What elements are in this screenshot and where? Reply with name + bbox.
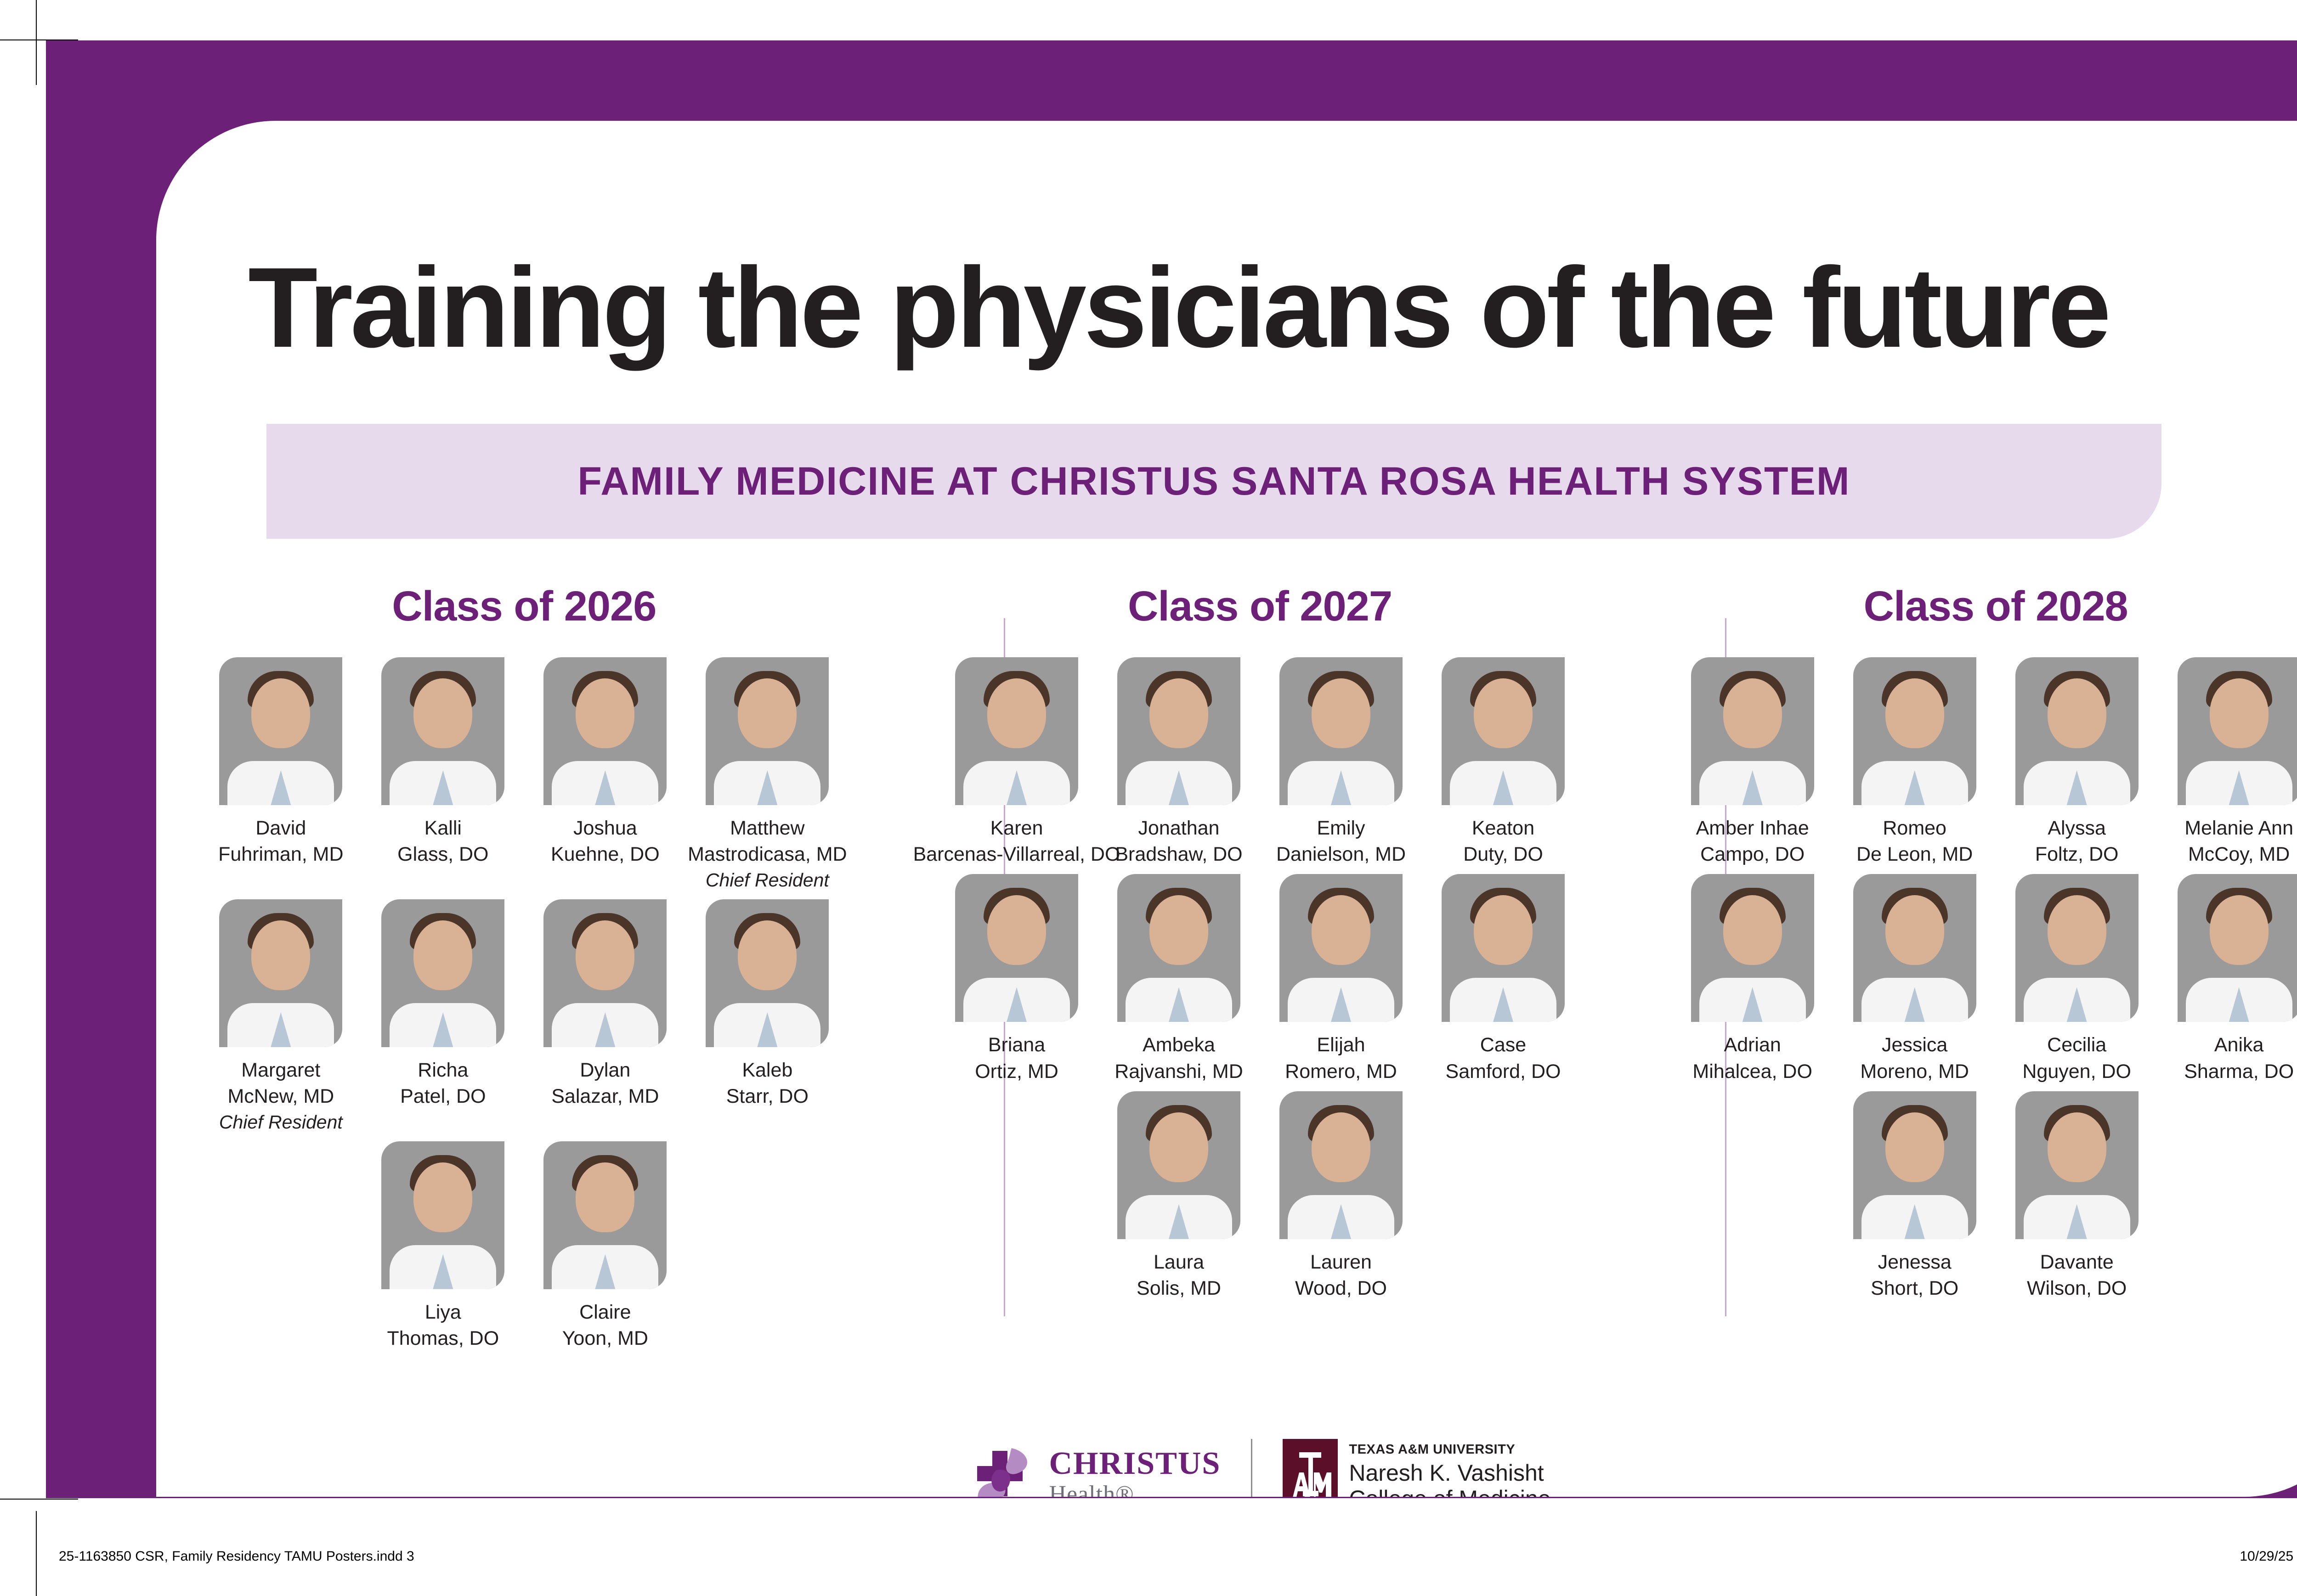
resident-first-name: Elijah bbox=[1285, 1032, 1397, 1058]
resident-last-name-degree: Patel, DO bbox=[400, 1083, 486, 1110]
resident-name: Melanie AnnMcCoy, MD bbox=[2184, 815, 2293, 868]
empty-slot bbox=[2170, 1091, 2297, 1302]
resident-last-name-degree: Yoon, MD bbox=[562, 1325, 648, 1352]
headshot-face bbox=[987, 895, 1046, 965]
headshot-face bbox=[1723, 678, 1782, 748]
resident-headshot bbox=[1853, 874, 1976, 1022]
headshot-face bbox=[251, 920, 310, 990]
resident-card: CaseSamford, DO bbox=[1434, 874, 1572, 1084]
resident-headshot bbox=[1853, 1091, 1976, 1239]
resident-last-name-degree: Wilson, DO bbox=[2027, 1275, 2127, 1302]
resident-first-name: Case bbox=[1446, 1032, 1561, 1058]
resident-last-name-degree: Glass, DO bbox=[397, 841, 488, 868]
crop-mark-top-left bbox=[36, 0, 37, 85]
christus-health-word: Health® bbox=[1049, 1483, 1221, 1497]
resident-name: ElijahRomero, MD bbox=[1285, 1032, 1397, 1084]
resident-first-name: Alyssa bbox=[2035, 815, 2119, 841]
resident-name: KarenBarcenas-Villarreal, DO bbox=[913, 815, 1120, 868]
headshot-face bbox=[2048, 1112, 2106, 1182]
resident-last-name-degree: Mihalcea, DO bbox=[1692, 1059, 1812, 1085]
resident-headshot bbox=[219, 899, 342, 1047]
resident-card: DavanteWilson, DO bbox=[2008, 1091, 2146, 1302]
resident-first-name: Romeo bbox=[1856, 815, 1973, 841]
resident-row: BrianaOrtiz, MDAmbekaRajvanshi, MDElijah… bbox=[892, 874, 1628, 1084]
resident-card: LaurenWood, DO bbox=[1272, 1091, 1410, 1302]
resident-headshot bbox=[219, 657, 342, 805]
resident-card: JonathanBradshaw, DO bbox=[1110, 657, 1248, 868]
resident-headshot bbox=[2015, 874, 2139, 1022]
resident-card: KarenBarcenas-Villarreal, DO bbox=[948, 657, 1086, 868]
resident-last-name-degree: Ortiz, MD bbox=[975, 1059, 1058, 1085]
resident-name: JonathanBradshaw, DO bbox=[1115, 815, 1242, 868]
resident-first-name: Richa bbox=[400, 1057, 486, 1083]
headshot-face bbox=[251, 678, 310, 748]
resident-card: AdrianMihalcea, DO bbox=[1684, 874, 1822, 1084]
headshot-face bbox=[2048, 678, 2106, 748]
resident-headshot bbox=[706, 899, 829, 1047]
resident-last-name-degree: Sharma, DO bbox=[2184, 1059, 2294, 1085]
resident-card: BrianaOrtiz, MD bbox=[948, 874, 1086, 1084]
headshot-face bbox=[576, 920, 634, 990]
resident-row: DavidFuhriman, MDKalliGlass, DOJoshuaKue… bbox=[156, 657, 892, 893]
resident-card: RichaPatel, DO bbox=[374, 899, 512, 1135]
resident-headshot bbox=[381, 899, 504, 1047]
headshot-face bbox=[1312, 1112, 1370, 1182]
resident-last-name-degree: Nguyen, DO bbox=[2022, 1059, 2131, 1085]
resident-card: ClaireYoon, MD bbox=[536, 1141, 674, 1352]
resident-first-name: Kaleb bbox=[726, 1057, 809, 1083]
resident-headshot bbox=[543, 1141, 667, 1289]
headshot-face bbox=[576, 678, 634, 748]
resident-last-name-degree: Wood, DO bbox=[1295, 1275, 1387, 1302]
headshot-face bbox=[1885, 678, 1944, 748]
headshot-face bbox=[1474, 678, 1533, 748]
resident-name: JoshuaKuehne, DO bbox=[551, 815, 660, 868]
crop-mark-left-bottom bbox=[0, 1499, 78, 1500]
resident-last-name-degree: Romero, MD bbox=[1285, 1059, 1397, 1085]
resident-first-name: Jessica bbox=[1860, 1032, 1969, 1058]
resident-headshot bbox=[955, 657, 1078, 805]
resident-role: Chief Resident bbox=[688, 868, 847, 893]
resident-last-name-degree: Moreno, MD bbox=[1860, 1059, 1969, 1085]
resident-headshot bbox=[543, 657, 667, 805]
resident-last-name-degree: Rajvanshi, MD bbox=[1115, 1059, 1243, 1085]
resident-last-name-degree: Short, DO bbox=[1871, 1275, 1958, 1302]
resident-row: LauraSolis, MDLaurenWood, DO bbox=[892, 1091, 1628, 1302]
resident-headshot bbox=[1279, 874, 1403, 1022]
resident-row: JenessaShort, DODavanteWilson, DO bbox=[1628, 1091, 2297, 1302]
resident-first-name: Lauren bbox=[1295, 1249, 1387, 1275]
resident-first-name: Keaton bbox=[1463, 815, 1543, 841]
christus-cross-icon bbox=[969, 1443, 1038, 1497]
resident-headshot bbox=[1117, 1091, 1240, 1239]
resident-headshot bbox=[1442, 657, 1565, 805]
resident-card: LauraSolis, MD bbox=[1110, 1091, 1248, 1302]
resident-card: MatthewMastrodicasa, MDChief Resident bbox=[698, 657, 836, 893]
headshot-face bbox=[1723, 895, 1782, 965]
resident-first-name: Kalli bbox=[397, 815, 488, 841]
logo-separator bbox=[1251, 1439, 1252, 1497]
resident-name: LaurenWood, DO bbox=[1295, 1249, 1387, 1302]
resident-last-name-degree: Kuehne, DO bbox=[551, 841, 660, 868]
class-column-0: Class of 2026DavidFuhriman, MDKalliGlass… bbox=[156, 582, 892, 1404]
resident-card: CeciliaNguyen, DO bbox=[2008, 874, 2146, 1084]
resident-first-name: Karen bbox=[913, 815, 1120, 841]
logo-strip: CHRISTUS Health® TEXAS A&M UNIVERSITY bbox=[156, 1439, 2297, 1497]
resident-card: KeatonDuty, DO bbox=[1434, 657, 1572, 868]
resident-headshot bbox=[2178, 657, 2297, 805]
resident-first-name: Emily bbox=[1276, 815, 1406, 841]
tamu-university-line: TEXAS A&M UNIVERSITY bbox=[1349, 1442, 1550, 1457]
resident-card: ElijahRomero, MD bbox=[1272, 874, 1410, 1084]
resident-name: DylanSalazar, MD bbox=[551, 1057, 659, 1110]
resident-name: RichaPatel, DO bbox=[400, 1057, 486, 1110]
class-title: Class of 2028 bbox=[1628, 582, 2297, 631]
resident-first-name: Briana bbox=[975, 1032, 1058, 1058]
resident-name: AlyssaFoltz, DO bbox=[2035, 815, 2119, 868]
resident-name: ClaireYoon, MD bbox=[562, 1299, 648, 1352]
headshot-face bbox=[2048, 895, 2106, 965]
resident-card: MargaretMcNew, MDChief Resident bbox=[212, 899, 350, 1135]
resident-last-name-degree: Mastrodicasa, MD bbox=[688, 841, 847, 868]
resident-last-name-degree: Starr, DO bbox=[726, 1083, 809, 1110]
resident-last-name-degree: Thomas, DO bbox=[387, 1325, 499, 1352]
headshot-face bbox=[1149, 1112, 1208, 1182]
resident-name: RomeoDe Leon, MD bbox=[1856, 815, 1973, 868]
headshot-face bbox=[2210, 678, 2269, 748]
resident-name: CaseSamford, DO bbox=[1446, 1032, 1561, 1084]
resident-name: KalliGlass, DO bbox=[397, 815, 488, 868]
print-timestamp: 10/29/25 11:39 AM bbox=[2240, 1549, 2297, 1564]
resident-card: JoshuaKuehne, DO bbox=[536, 657, 674, 893]
headshot-face bbox=[413, 920, 472, 990]
headshot-face bbox=[1149, 895, 1208, 965]
resident-last-name-degree: Duty, DO bbox=[1463, 841, 1543, 868]
resident-card: LiyaThomas, DO bbox=[374, 1141, 512, 1352]
headshot-face bbox=[1474, 895, 1533, 965]
resident-row: LiyaThomas, DOClaireYoon, MD bbox=[156, 1141, 892, 1352]
resident-first-name: Adrian bbox=[1692, 1032, 1812, 1058]
resident-first-name: Anika bbox=[2184, 1032, 2294, 1058]
subtitle-text: FAMILY MEDICINE AT CHRISTUS SANTA ROSA H… bbox=[577, 459, 1850, 504]
poster-canvas: Training the physicians of the future FA… bbox=[46, 40, 2297, 1498]
empty-slot bbox=[1434, 1091, 1572, 1302]
resident-row: MargaretMcNew, MDChief ResidentRichaPate… bbox=[156, 899, 892, 1135]
resident-last-name-degree: Samford, DO bbox=[1446, 1059, 1561, 1085]
resident-first-name: Melanie Ann bbox=[2184, 815, 2293, 841]
headshot-face bbox=[738, 678, 797, 748]
resident-headshot bbox=[1442, 874, 1565, 1022]
christus-wordmark: CHRISTUS bbox=[1049, 1448, 1221, 1480]
resident-name: Amber InhaeCampo, DO bbox=[1696, 815, 1809, 868]
resident-last-name-degree: Fuhriman, MD bbox=[218, 841, 343, 868]
resident-name: BrianaOrtiz, MD bbox=[975, 1032, 1058, 1084]
resident-card: JessicaMoreno, MD bbox=[1846, 874, 1984, 1084]
resident-headshot bbox=[381, 1141, 504, 1289]
resident-card: EmilyDanielson, MD bbox=[1272, 657, 1410, 868]
resident-first-name: Laura bbox=[1137, 1249, 1221, 1275]
resident-card: DavidFuhriman, MD bbox=[212, 657, 350, 893]
resident-last-name-degree: McNew, MD bbox=[219, 1083, 343, 1110]
tamu-atm-icon bbox=[1283, 1439, 1338, 1497]
resident-card: KalliGlass, DO bbox=[374, 657, 512, 893]
resident-headshot bbox=[543, 899, 667, 1047]
resident-name: KeatonDuty, DO bbox=[1463, 815, 1543, 868]
resident-headshot bbox=[706, 657, 829, 805]
resident-first-name: Ambeka bbox=[1115, 1032, 1243, 1058]
resident-first-name: Davante bbox=[2027, 1249, 2127, 1275]
resident-row: KarenBarcenas-Villarreal, DOJonathanBrad… bbox=[892, 657, 1628, 868]
resident-card: Melanie AnnMcCoy, MD bbox=[2170, 657, 2297, 868]
headshot-face bbox=[1149, 678, 1208, 748]
resident-first-name: Jonathan bbox=[1115, 815, 1242, 841]
resident-name: KalebStarr, DO bbox=[726, 1057, 809, 1110]
resident-name: MargaretMcNew, MDChief Resident bbox=[219, 1057, 343, 1135]
resident-first-name: Jenessa bbox=[1871, 1249, 1958, 1275]
resident-name: AmbekaRajvanshi, MD bbox=[1115, 1032, 1243, 1084]
tamu-college-line: College of Medicine bbox=[1349, 1486, 1550, 1497]
resident-last-name-degree: Foltz, DO bbox=[2035, 841, 2119, 868]
resident-first-name: Liya bbox=[387, 1299, 499, 1325]
resident-card: AmbekaRajvanshi, MD bbox=[1110, 874, 1248, 1084]
resident-first-name: Claire bbox=[562, 1299, 648, 1325]
tamu-benefactor-line: Naresh K. Vashisht bbox=[1349, 1460, 1550, 1486]
resident-name: CeciliaNguyen, DO bbox=[2022, 1032, 2131, 1084]
job-code: 00-000000 bbox=[2257, 1471, 2297, 1485]
resident-first-name: David bbox=[218, 815, 343, 841]
resident-last-name-degree: Salazar, MD bbox=[551, 1083, 659, 1110]
resident-card: RomeoDe Leon, MD bbox=[1846, 657, 1984, 868]
resident-card: DylanSalazar, MD bbox=[536, 899, 674, 1135]
headshot-face bbox=[1312, 895, 1370, 965]
resident-headshot bbox=[1853, 657, 1976, 805]
headshot-face bbox=[2210, 895, 2269, 965]
resident-headshot bbox=[955, 874, 1078, 1022]
headshot-face bbox=[576, 1162, 634, 1232]
empty-slot bbox=[948, 1091, 1086, 1302]
print-file-label: 25-1163850 CSR, Family Residency TAMU Po… bbox=[59, 1549, 414, 1564]
resident-card: KalebStarr, DO bbox=[698, 899, 836, 1135]
resident-first-name: Cecilia bbox=[2022, 1032, 2131, 1058]
resident-card: Amber InhaeCampo, DO bbox=[1684, 657, 1822, 868]
resident-last-name-degree: Bradshaw, DO bbox=[1115, 841, 1242, 868]
page-title: Training the physicians of the future bbox=[248, 248, 2269, 367]
poster-white-card: Training the physicians of the future FA… bbox=[156, 121, 2297, 1497]
resident-headshot bbox=[2015, 1091, 2139, 1239]
class-title: Class of 2027 bbox=[892, 582, 1628, 631]
resident-headshot bbox=[2015, 657, 2139, 805]
resident-headshot bbox=[2178, 874, 2297, 1022]
resident-first-name: Matthew bbox=[688, 815, 847, 841]
resident-headshot bbox=[1117, 657, 1240, 805]
resident-last-name-degree: De Leon, MD bbox=[1856, 841, 1973, 868]
crop-mark-bottom-left bbox=[36, 1511, 37, 1596]
headshot-face bbox=[1885, 1112, 1944, 1182]
empty-slot bbox=[212, 1141, 350, 1352]
empty-slot bbox=[1684, 1091, 1822, 1302]
resident-headshot bbox=[1691, 874, 1814, 1022]
empty-slot bbox=[698, 1141, 836, 1352]
resident-headshot bbox=[1279, 657, 1403, 805]
resident-first-name: Amber Inhae bbox=[1696, 815, 1809, 841]
resident-row: AdrianMihalcea, DOJessicaMoreno, MDCecil… bbox=[1628, 874, 2297, 1084]
resident-card: AnikaSharma, DO bbox=[2170, 874, 2297, 1084]
resident-name: JessicaMoreno, MD bbox=[1860, 1032, 1969, 1084]
resident-headshot bbox=[1691, 657, 1814, 805]
headshot-face bbox=[413, 1162, 472, 1232]
resident-first-name: Dylan bbox=[551, 1057, 659, 1083]
headshot-face bbox=[987, 678, 1046, 748]
resident-last-name-degree: McCoy, MD bbox=[2184, 841, 2293, 868]
class-title: Class of 2026 bbox=[156, 582, 892, 631]
resident-name: LiyaThomas, DO bbox=[387, 1299, 499, 1352]
resident-headshot bbox=[1117, 874, 1240, 1022]
resident-role: Chief Resident bbox=[219, 1110, 343, 1135]
subtitle-banner: FAMILY MEDICINE AT CHRISTUS SANTA ROSA H… bbox=[266, 424, 2161, 539]
resident-last-name-degree: Campo, DO bbox=[1696, 841, 1809, 868]
resident-name: EmilyDanielson, MD bbox=[1276, 815, 1406, 868]
resident-card: JenessaShort, DO bbox=[1846, 1091, 1984, 1302]
resident-name: LauraSolis, MD bbox=[1137, 1249, 1221, 1302]
christus-health-logo: CHRISTUS Health® bbox=[969, 1443, 1221, 1497]
headshot-face bbox=[738, 920, 797, 990]
resident-headshot bbox=[1279, 1091, 1403, 1239]
resident-row: Amber InhaeCampo, DORomeoDe Leon, MDAlys… bbox=[1628, 657, 2297, 868]
resident-name: DavanteWilson, DO bbox=[2027, 1249, 2127, 1302]
resident-card: AlyssaFoltz, DO bbox=[2008, 657, 2146, 868]
resident-last-name-degree: Barcenas-Villarreal, DO bbox=[913, 841, 1120, 868]
resident-last-name-degree: Danielson, MD bbox=[1276, 841, 1406, 868]
headshot-face bbox=[413, 678, 472, 748]
headshot-face bbox=[1312, 678, 1370, 748]
class-column-2: Class of 2028Amber InhaeCampo, DORomeoDe… bbox=[1628, 582, 2297, 1404]
texas-am-college-of-medicine-logo: TEXAS A&M UNIVERSITY Naresh K. Vashisht … bbox=[1283, 1439, 1550, 1497]
resident-name: AnikaSharma, DO bbox=[2184, 1032, 2294, 1084]
resident-first-name: Margaret bbox=[219, 1057, 343, 1083]
resident-first-name: Joshua bbox=[551, 815, 660, 841]
resident-headshot bbox=[381, 657, 504, 805]
resident-name: DavidFuhriman, MD bbox=[218, 815, 343, 868]
headshot-face bbox=[1885, 895, 1944, 965]
resident-name: AdrianMihalcea, DO bbox=[1692, 1032, 1812, 1084]
resident-last-name-degree: Solis, MD bbox=[1137, 1275, 1221, 1302]
class-column-1: Class of 2027KarenBarcenas-Villarreal, D… bbox=[892, 582, 1628, 1404]
resident-name: MatthewMastrodicasa, MDChief Resident bbox=[688, 815, 847, 893]
class-columns: Class of 2026DavidFuhriman, MDKalliGlass… bbox=[156, 582, 2297, 1404]
resident-name: JenessaShort, DO bbox=[1871, 1249, 1958, 1302]
